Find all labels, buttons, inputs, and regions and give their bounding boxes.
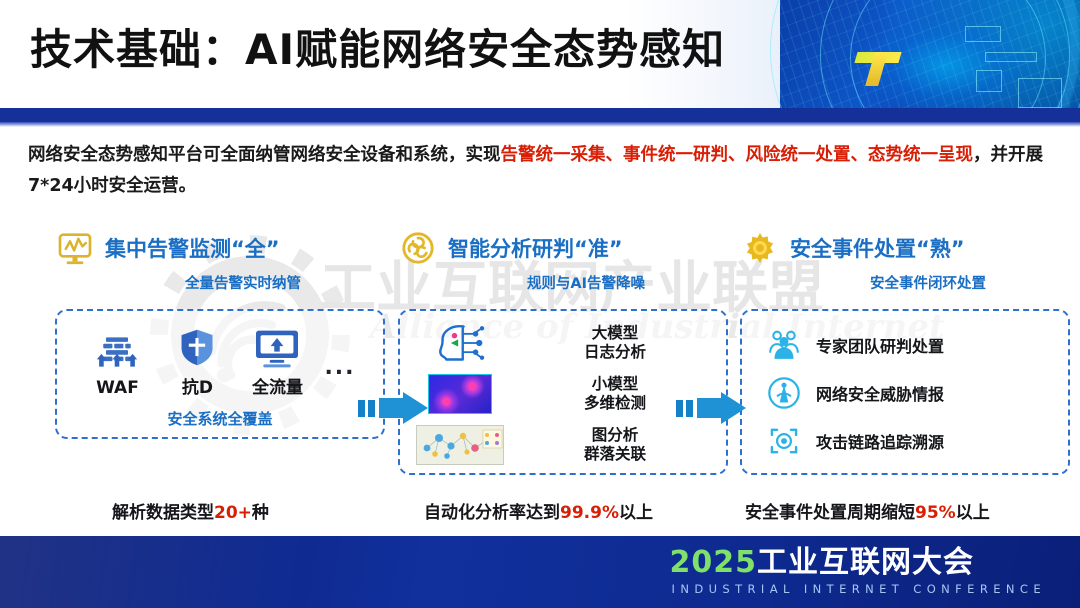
analysis-row-3-line1: 图分析 [512, 426, 718, 445]
traffic-monitor-icon [253, 327, 301, 369]
brand-name-cn: 工业互联网大会 [757, 545, 974, 580]
column-3-subtitle: 安全事件闭环处置 [740, 272, 1070, 293]
tech-chip-2 [985, 52, 1037, 62]
flow-arrow-2 [676, 388, 750, 428]
column-2-title: 智能分析研判“准” [448, 233, 623, 263]
security-item-fulltraffic: 全流量 [244, 323, 310, 398]
t-logo-icon [852, 46, 908, 90]
caption-column-3: 安全事件处置周期缩短95%以上 [745, 498, 990, 523]
team-group-icon-wrap [764, 326, 804, 364]
panel-1-footer-label: 安全系统全覆盖 [67, 408, 373, 429]
analysis-row-1-line1: 大模型 [512, 324, 718, 343]
graph-network-thumb-wrap [408, 425, 512, 465]
analysis-row-1-line2: 日志分析 [512, 343, 718, 362]
column-2-header: 智能分析研判“准” [398, 226, 728, 270]
title-underline-bar [0, 108, 1080, 122]
lead-segment-1: 网络安全态势感知平台可全面纳管网络安全设备和系统，实现 [28, 145, 501, 165]
title-underline-fade [0, 122, 1080, 127]
column-1-title: 集中告警监测“全” [105, 233, 280, 263]
conference-brand: 2025工业互联网大会 INDUSTRIAL INTERNET CONFEREN… [670, 546, 1046, 596]
handling-row-attack-trace: 攻击链路追踪溯源 [750, 417, 1060, 465]
slide-header: 技术基础：AI赋能网络安全态势感知 [0, 0, 1080, 120]
caption-1-seg1: 解析数据类型 [112, 503, 214, 523]
signal-tower-icon [765, 374, 803, 412]
column-3-header: 安全事件处置“熟” [740, 226, 1070, 270]
traffic-monitor-icon-wrap [244, 323, 310, 369]
caption-column-1: 解析数据类型20+种 [112, 498, 269, 523]
brand-year: 2025 [670, 545, 758, 580]
column-alert-monitoring: 集中告警监测“全” 全量告警实时纳管 [55, 226, 385, 439]
shield-icon-wrap [164, 323, 230, 369]
caption-2-seg2: 以上 [619, 503, 653, 523]
lead-highlight: 告警统一采集、事件统一研判、风险统一处置、态势统一呈现 [501, 145, 974, 165]
caption-2-highlight: 99.9% [560, 503, 619, 523]
security-item-antiddos-label: 抗D [164, 373, 230, 398]
firewall-icon [95, 330, 139, 374]
lead-paragraph: 网络安全态势感知平台可全面纳管网络安全设备和系统，实现告警统一采集、事件统一研判… [28, 140, 1058, 202]
brand-main-line: 2025工业互联网大会 [670, 546, 1046, 580]
swirl-circle-icon [398, 228, 438, 268]
team-group-icon [765, 326, 803, 364]
handling-row-1-label: 专家团队研判处置 [816, 333, 944, 357]
graph-network-thumb [416, 425, 504, 465]
brand-name-en: INDUSTRIAL INTERNET CONFERENCE [670, 582, 1046, 596]
gear-icon [740, 228, 780, 268]
ai-brain-icon [432, 321, 488, 365]
security-items-more: ... [324, 355, 355, 398]
header-tech-graphic [780, 0, 1080, 120]
panel-security-systems: WAF 抗D [55, 309, 385, 439]
tech-chip-1 [965, 26, 1001, 42]
column-1-header: 集中告警监测“全” [55, 226, 385, 270]
firewall-icon-wrap [84, 328, 150, 374]
analysis-row-3-text: 图分析 群落关联 [512, 426, 718, 464]
caption-3-seg2: 以上 [956, 503, 990, 523]
analysis-row-3-line2: 群落关联 [512, 445, 718, 464]
column-1-subtitle: 全量告警实时纳管 [55, 272, 385, 293]
flow-arrow-1 [358, 388, 432, 428]
signal-tower-icon-wrap [764, 374, 804, 412]
column-3-title: 安全事件处置“熟” [790, 233, 965, 263]
caption-2-seg1: 自动化分析率达到 [424, 503, 560, 523]
caption-1-highlight: 20+ [214, 503, 252, 523]
analysis-row-large-model: 大模型 日志分析 [408, 319, 718, 367]
shield-icon [177, 325, 217, 369]
security-system-icons: WAF 抗D [67, 323, 373, 398]
arrow-right-icon [358, 388, 432, 428]
target-scan-icon [765, 422, 803, 460]
column-intelligent-analysis: 智能分析研判“准” 规则与AI告警降噪 [398, 226, 728, 475]
security-item-waf-label: WAF [84, 378, 150, 398]
graph-network-svg [417, 426, 504, 465]
column-2-subtitle: 规则与AI告警降噪 [398, 272, 728, 293]
target-scan-icon-wrap [764, 422, 804, 460]
heatmap-thumb [428, 374, 492, 414]
handling-row-3-label: 攻击链路追踪溯源 [816, 429, 944, 453]
caption-3-seg1: 安全事件处置周期缩短 [745, 503, 915, 523]
tech-chip-3 [976, 70, 1002, 92]
ai-brain-icon-wrap [408, 321, 512, 365]
monitor-waveform-icon [55, 228, 95, 268]
tech-chip-4 [1018, 78, 1062, 108]
caption-1-seg2: 种 [252, 503, 269, 523]
arrow-right-icon [676, 388, 750, 428]
handling-row-2-label: 网络安全威胁情报 [816, 381, 944, 405]
handling-row-threat-intel: 网络安全威胁情报 [750, 369, 1060, 417]
security-item-fulltraffic-label: 全流量 [244, 373, 310, 398]
analysis-row-small-model: 小模型 多维检测 [408, 370, 718, 418]
handling-row-expert-team: 专家团队研判处置 [750, 321, 1060, 369]
security-item-antiddos: 抗D [164, 323, 230, 398]
caption-3-highlight: 95% [915, 503, 956, 523]
page-title: 技术基础：AI赋能网络安全态势感知 [30, 16, 725, 77]
column-incident-handling: 安全事件处置“熟” 安全事件闭环处置 专家团队研判处置 [740, 226, 1070, 475]
analysis-row-1-text: 大模型 日志分析 [512, 324, 718, 362]
caption-column-2: 自动化分析率达到99.9%以上 [424, 498, 653, 523]
panel-handling-capabilities: 专家团队研判处置 网络安全威胁情报 [740, 309, 1070, 475]
security-item-waf: WAF [84, 328, 150, 398]
slide-footer: 2025工业互联网大会 INDUSTRIAL INTERNET CONFEREN… [0, 536, 1080, 608]
analysis-row-graph: 图分析 群落关联 [408, 421, 718, 469]
